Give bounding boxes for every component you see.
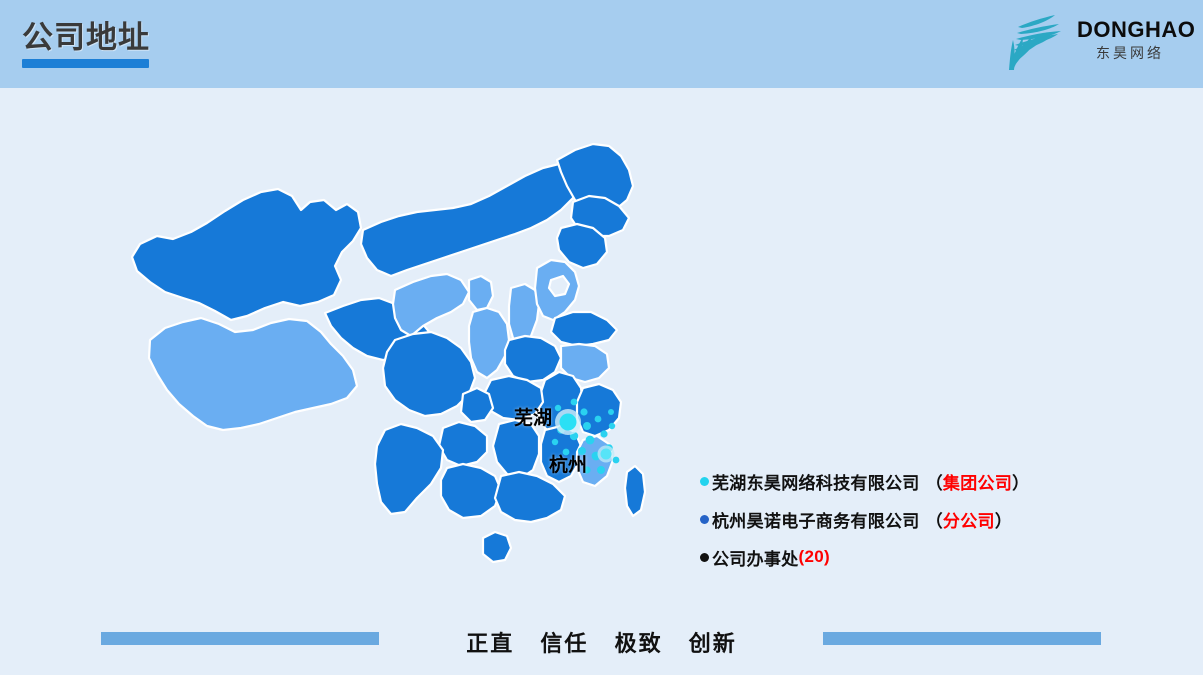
province-shaanxi (469, 308, 509, 378)
legend-item-group: 芜湖东昊网络科技有限公司 （ 集团公司 ） (700, 462, 1170, 500)
slide-root: 公司地址 (0, 0, 1203, 675)
legend-item-tag: (20) (799, 547, 830, 567)
legend-bullet-icon (700, 477, 709, 486)
province-hainan (483, 532, 511, 562)
slogan-word: 极致 (615, 631, 663, 656)
province-guangxi (441, 464, 501, 518)
legend-bullet-icon (700, 515, 709, 524)
china-map: 芜湖 杭州 (95, 140, 715, 610)
legend-paren-close: ） (1012, 469, 1029, 494)
province-xinjiang (132, 189, 361, 320)
legend-paren-close: ） (995, 507, 1012, 532)
slide-header: 公司地址 (0, 0, 1203, 88)
feather-fan-icon (999, 10, 1077, 74)
legend-item-tag: 集团公司 (943, 469, 1012, 494)
logo-text: DONGHAO 东昊网络 (1077, 17, 1187, 63)
title-underline (22, 59, 149, 68)
legend-bullet-icon (700, 553, 709, 562)
logo-name-cn: 东昊网络 (1077, 43, 1187, 63)
footer-slogan: 正直 信任 极致 创新 (0, 626, 1203, 658)
city-label-wuhu: 芜湖 (514, 403, 552, 430)
province-beijing (549, 276, 569, 296)
china-map-svg (95, 140, 715, 610)
province-shanxi (509, 284, 539, 344)
legend-item-tag: 分公司 (943, 507, 995, 532)
branch-marker-hangzhou (598, 446, 615, 463)
province-taiwan (625, 466, 645, 516)
province-tibet (149, 318, 357, 430)
province-yunnan (375, 424, 443, 514)
province-inner-mongolia (361, 164, 579, 276)
page-title: 公司地址 (22, 18, 150, 68)
slogan-word: 信任 (540, 631, 588, 656)
province-gansu (393, 274, 469, 336)
company-logo: DONGHAO 东昊网络 (999, 10, 1187, 76)
legend-item-name: 杭州昊诺电子商务有限公司 (712, 507, 920, 532)
legend-item-offices: 公司办事处 (20) (700, 538, 1170, 576)
slogan-word: 正直 (466, 631, 514, 656)
legend-item-name: 公司办事处 (712, 545, 799, 570)
page-title-text: 公司地址 (22, 18, 150, 58)
province-ningxia (469, 276, 493, 310)
legend-paren-open: （ (926, 507, 943, 532)
province-shandong (551, 312, 617, 346)
legend-paren-open: （ (926, 469, 943, 494)
slogan-word: 创新 (689, 631, 737, 656)
province-chongqing (461, 388, 493, 422)
legend: 芜湖东昊网络科技有限公司 （ 集团公司 ） 杭州昊诺电子商务有限公司 （ 分公司… (700, 462, 1170, 576)
headquarters-marker-wuhu (555, 409, 581, 435)
city-label-hangzhou: 杭州 (549, 450, 587, 477)
legend-item-branch: 杭州昊诺电子商务有限公司 （ 分公司 ） (700, 500, 1170, 538)
province-guizhou (439, 422, 487, 466)
legend-item-name: 芜湖东昊网络科技有限公司 (712, 469, 920, 494)
logo-name-en: DONGHAO (1077, 17, 1187, 43)
